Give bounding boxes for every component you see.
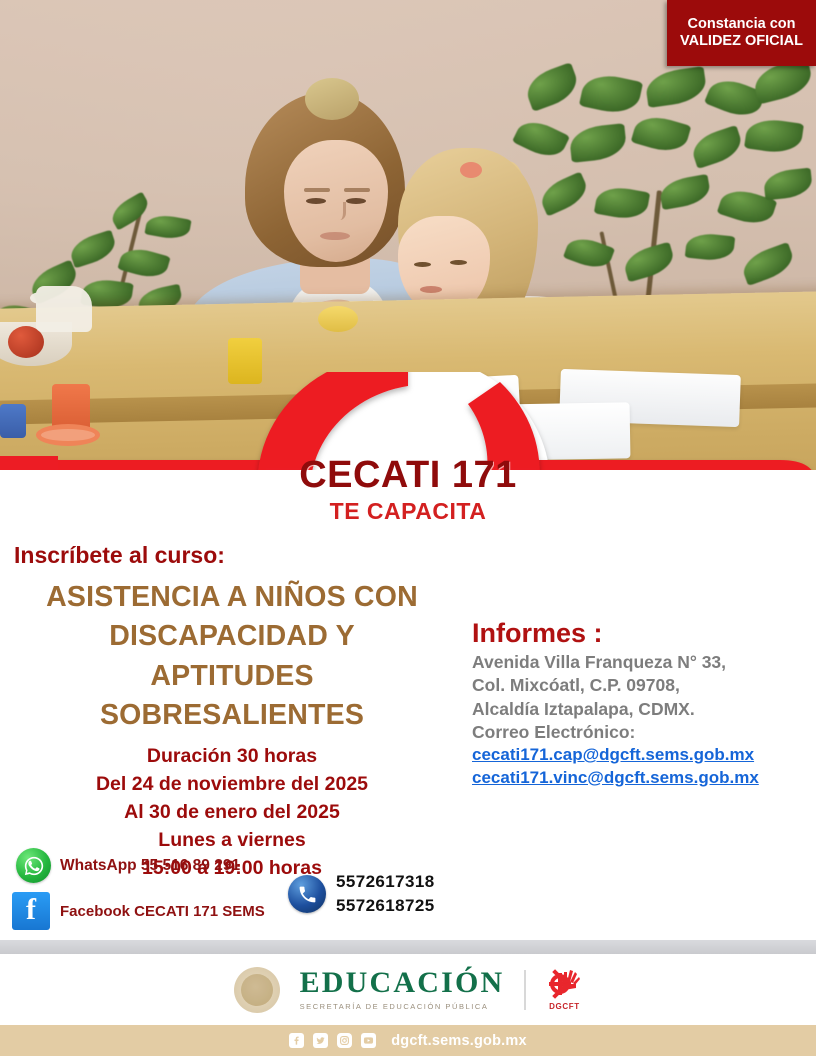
footer-divider xyxy=(0,940,816,954)
whatsapp-icon xyxy=(16,848,51,883)
woman-hair-bun xyxy=(305,78,359,120)
address-line: Avenida Villa Franqueza N° 33, xyxy=(472,651,816,674)
informes-address: Avenida Villa Franqueza N° 33, Col. Mixc… xyxy=(472,651,816,744)
dgcft-gear-hand-icon xyxy=(546,968,582,1000)
schedule-line: Al 30 de enero del 2025 xyxy=(6,798,458,826)
phone-numbers: 5572617318 5572618725 xyxy=(336,870,435,918)
youtube-icon[interactable] xyxy=(361,1033,376,1048)
facebook-contact[interactable]: f Facebook CECATI 171 SEMS xyxy=(12,892,265,930)
social-bottom-bar: dgcft.sems.gob.mx xyxy=(0,1025,816,1056)
poster-root: Constancia con VALIDEZ OFICIAL xyxy=(0,0,816,1056)
course-title-line: SOBRESALIENTES xyxy=(6,696,458,735)
course-title: ASISTENCIA A NIÑOS CON DISCAPACIDAD Y AP… xyxy=(6,578,458,735)
whatsapp-contact[interactable]: WhatsApp 55 516 89 291 xyxy=(16,848,240,883)
facebook-label: Facebook CECATI 171 SEMS xyxy=(60,903,265,920)
educacion-logo: EDUCACIÓN SECRETARÍA DE EDUCACIÓN PÚBLIC… xyxy=(300,968,505,1011)
dough-prop xyxy=(318,306,358,332)
badge-line-1: Constancia con xyxy=(688,16,796,33)
informes-title: Informes : xyxy=(472,618,816,649)
instagram-icon[interactable] xyxy=(337,1033,352,1048)
facebook-icon[interactable] xyxy=(289,1033,304,1048)
child-hair-tie xyxy=(460,162,482,178)
email-link-vinc[interactable]: cecati171.vinc@dgcft.sems.gob.mx xyxy=(472,767,816,789)
educacion-title: EDUCACIÓN xyxy=(300,968,505,998)
facebook-icon: f xyxy=(12,892,50,930)
badge-line-2: VALIDEZ OFICIAL xyxy=(680,33,803,50)
footer-logos: EDUCACIÓN SECRETARÍA DE EDUCACIÓN PÚBLIC… xyxy=(0,954,816,1025)
phone-number-1: 5572617318 xyxy=(336,870,435,894)
phone-number-2: 5572618725 xyxy=(336,894,435,918)
educacion-subtitle: SECRETARÍA DE EDUCACIÓN PÚBLICA xyxy=(300,1002,505,1011)
schedule-line: Duración 30 horas xyxy=(6,742,458,770)
course-title-line: APTITUDES xyxy=(6,657,458,696)
course-title-line: DISCAPACIDAD Y xyxy=(6,617,458,656)
dgcft-label: DGCFT xyxy=(549,1002,580,1011)
address-line: Alcaldía Iztapalapa, CDMX. xyxy=(472,698,816,721)
dgcft-logo: DGCFT xyxy=(546,968,582,1011)
address-line: Col. Mixcóatl, C.P. 09708, xyxy=(472,674,816,697)
whatsapp-label: WhatsApp 55 516 89 291 xyxy=(60,857,240,875)
informes-block: Informes : Avenida Villa Franqueza N° 33… xyxy=(472,618,816,789)
phone-icon xyxy=(288,875,326,913)
content-area: Inscríbete al curso: ASISTENCIA A NIÑOS … xyxy=(0,470,816,940)
course-title-line: ASISTENCIA A NIÑOS CON xyxy=(6,578,458,617)
email-link-cap[interactable]: cecati171.cap@dgcft.sems.gob.mx xyxy=(472,744,816,766)
call-to-action-text: Inscríbete al curso: xyxy=(14,542,225,569)
toy-horse-prop xyxy=(36,286,92,332)
mexico-coat-of-arms-seal-icon xyxy=(234,967,280,1013)
schedule-line: Del 24 de noviembre del 2025 xyxy=(6,770,458,798)
footer-vertical-divider xyxy=(524,970,526,1010)
twitter-icon[interactable] xyxy=(313,1033,328,1048)
phone-contact[interactable]: 5572617318 5572618725 xyxy=(288,870,435,918)
address-line: Correo Electrónico: xyxy=(472,721,816,744)
validez-oficial-badge: Constancia con VALIDEZ OFICIAL xyxy=(667,0,816,66)
website-url[interactable]: dgcft.sems.gob.mx xyxy=(391,1033,527,1049)
